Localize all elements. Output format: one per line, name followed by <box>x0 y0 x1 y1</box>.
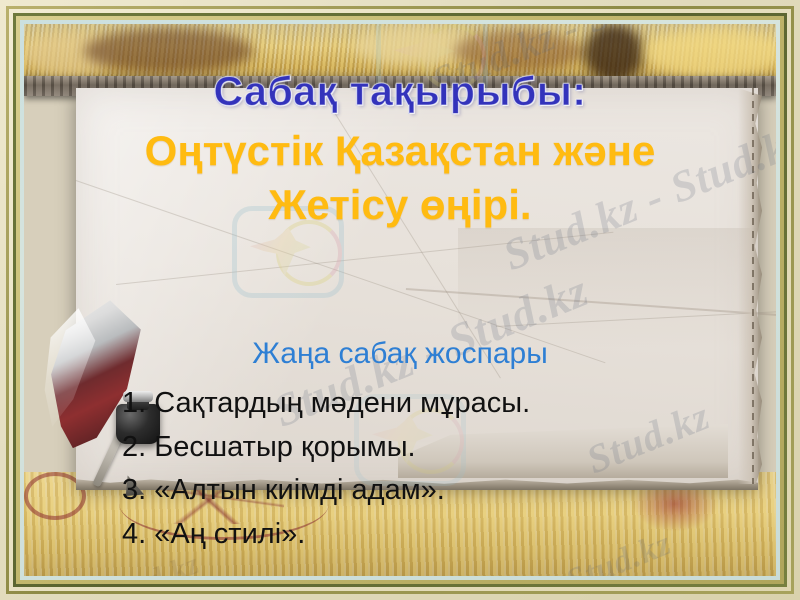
lesson-title-line-2: Жетісу өңірі. <box>24 178 776 232</box>
scene-photo: Stud.kz - Stud.kz Stud.kz - Stud.kz Stud… <box>24 24 776 576</box>
slide: Stud.kz - Stud.kz Stud.kz - Stud.kz Stud… <box>0 0 800 600</box>
list-item: 2. Бесшатыр қорымы. <box>122 426 762 470</box>
list-item: 1. Сақтардың мәдени мұрасы. <box>122 382 762 426</box>
list-item: 3. «Алтын киімді адам». <box>122 469 762 513</box>
lesson-plan-list: 1. Сақтардың мәдени мұрасы. 2. Бесшатыр … <box>122 382 762 556</box>
list-item: 4. «Аң стилі». <box>122 513 762 557</box>
lesson-plan-heading: Жаңа сабақ жоспары <box>24 337 776 371</box>
slide-content: Сабақ тақырыбы: Оңтүстік Қазақстан және … <box>24 24 776 576</box>
lesson-topic-label: Сабақ тақырыбы: <box>24 68 776 115</box>
lesson-title: Оңтүстік Қазақстан және Жетісу өңірі. <box>24 124 776 232</box>
lesson-title-line-1: Оңтүстік Қазақстан және <box>24 124 776 178</box>
